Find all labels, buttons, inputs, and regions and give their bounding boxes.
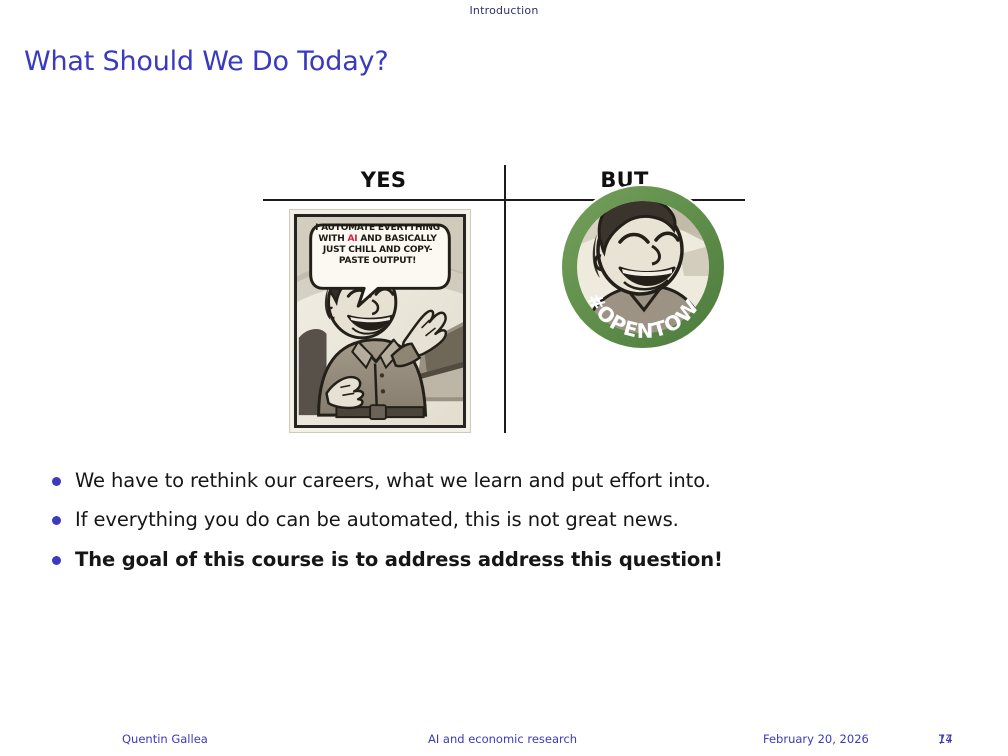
speech-line-3: JUST CHILL AND COPY- bbox=[307, 245, 448, 256]
comparison-table: YES BUT bbox=[263, 168, 745, 438]
bullet-list: We have to rethink our careers, what we … bbox=[52, 468, 952, 586]
opentowork-badge: #OPENTOWORK bbox=[560, 184, 726, 350]
column-header-yes: YES bbox=[263, 168, 504, 192]
footer-date: February 20, 2026 bbox=[763, 732, 869, 746]
speech-line-2-suffix: AND BASICALLY bbox=[357, 234, 436, 244]
list-item: If everything you do can be automated, t… bbox=[52, 507, 952, 533]
comic-speech-bubble: I AUTOMATE EVERYTHING WITH AI AND BASICA… bbox=[307, 223, 448, 267]
comic-panel-frame: I AUTOMATE EVERYTHING WITH AI AND BASICA… bbox=[289, 209, 471, 433]
bullet-dot-icon bbox=[52, 556, 61, 565]
bullet-text-1: We have to rethink our careers, what we … bbox=[75, 468, 711, 494]
list-item: We have to rethink our careers, what we … bbox=[52, 468, 952, 494]
speech-highlight-ai: AI bbox=[348, 234, 358, 244]
bullet-text-3: The goal of this course is to address ad… bbox=[75, 547, 723, 573]
opentowork-badge-icon: #OPENTOWORK bbox=[560, 184, 726, 350]
bullet-dot-icon bbox=[52, 516, 61, 525]
bullet-text-2: If everything you do can be automated, t… bbox=[75, 507, 679, 533]
list-item: The goal of this course is to address ad… bbox=[52, 547, 952, 573]
speech-line-4: PASTE OUTPUT! bbox=[307, 256, 448, 267]
bullet-dot-icon bbox=[52, 477, 61, 486]
footer-subject: AI and economic research bbox=[428, 732, 577, 746]
speech-line-1: I AUTOMATE EVERYTHING bbox=[307, 223, 448, 234]
speech-line-2-prefix: WITH bbox=[318, 234, 347, 244]
page-title: What Should We Do Today? bbox=[24, 46, 388, 77]
speech-line-2: WITH AI AND BASICALLY bbox=[307, 234, 448, 245]
slide-footer: Quentin Gallea AI and economic research … bbox=[0, 732, 1008, 748]
comic-panel-image: I AUTOMATE EVERYTHING WITH AI AND BASICA… bbox=[294, 214, 466, 428]
footer-author: Quentin Gallea bbox=[122, 732, 208, 746]
section-headline: Introduction bbox=[0, 4, 1008, 17]
comic-panel-cell: I AUTOMATE EVERYTHING WITH AI AND BASICA… bbox=[289, 209, 471, 433]
page-total: 74 bbox=[938, 732, 953, 746]
opentowork-badge-cell: #OPENTOWORK bbox=[560, 184, 726, 350]
column-divider bbox=[504, 165, 506, 433]
